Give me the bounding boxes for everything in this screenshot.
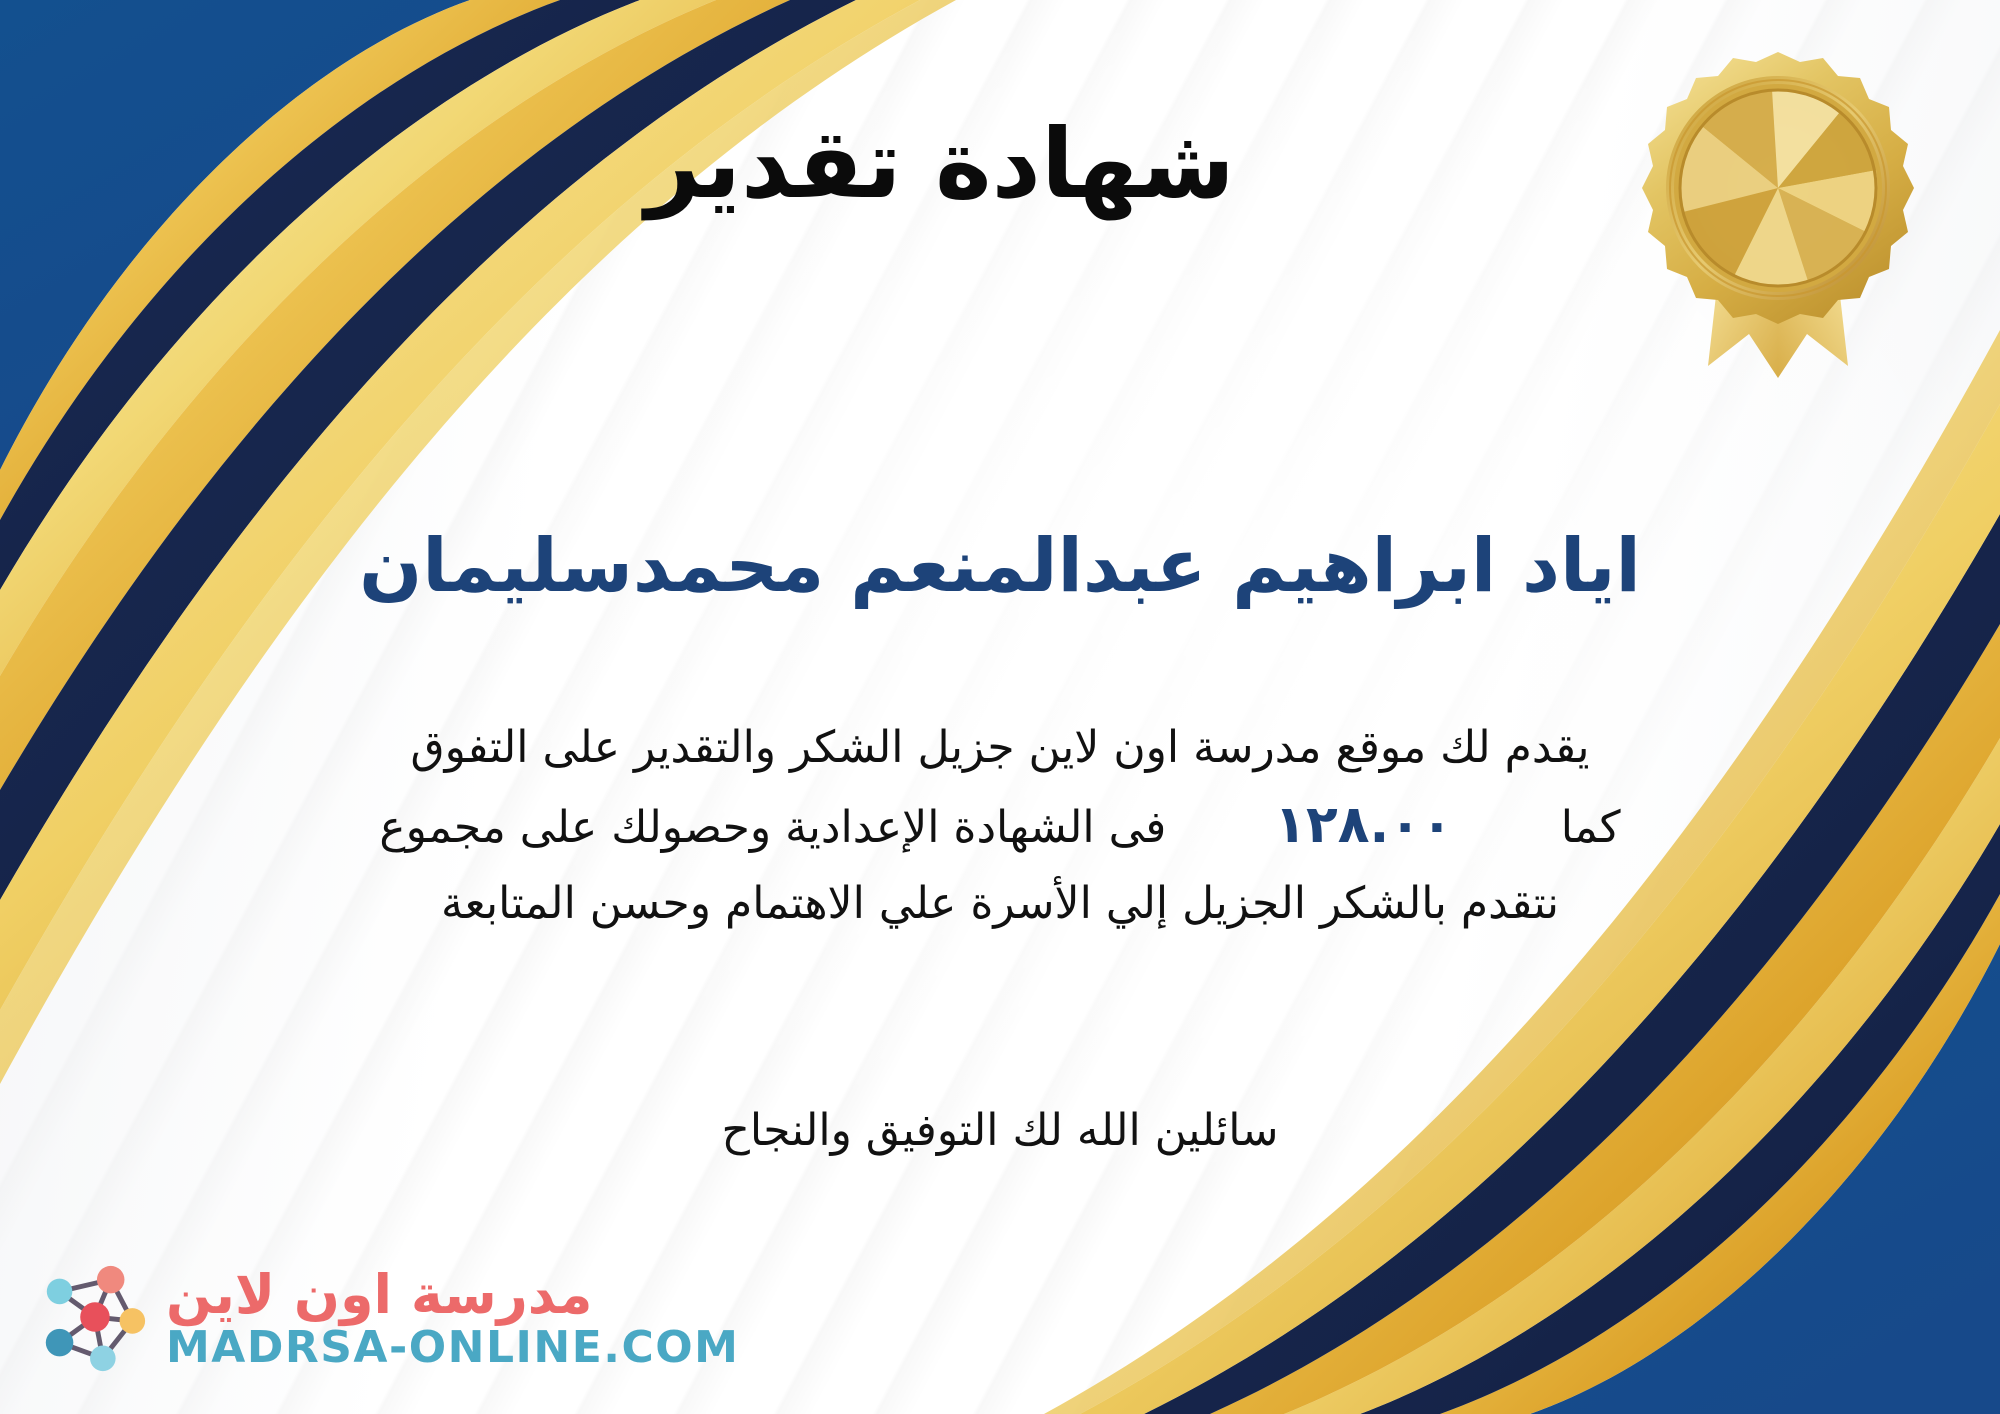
total-score-value: ١٢٨.٠٠ [1248, 795, 1478, 855]
body-line-3: نتقدم بالشكر الجزيل إلي الأسرة علي الاهت… [60, 868, 1940, 939]
brand-text: مدرسة اون لاين MADRSA-ONLINE.COM [166, 1266, 739, 1372]
body-line-2: كما ١٢٨.٠٠ فى الشهادة الإعدادية وحصولك ع… [60, 783, 1940, 867]
network-nodes-icon [34, 1260, 152, 1378]
brand-logo[interactable]: مدرسة اون لاين MADRSA-ONLINE.COM [34, 1260, 739, 1378]
body-line-1: يقدم لك موقع مدرسة اون لاين جزيل الشكر و… [60, 712, 1940, 783]
certificate-canvas: شهادة تقدير اياد ابراهيم عبدالمنعم محمدس… [0, 0, 2000, 1414]
closing-wish: سائلين الله لك التوفيق والنجاح [0, 1105, 2000, 1156]
brand-arabic-name: مدرسة اون لاين [166, 1266, 592, 1324]
brand-website[interactable]: MADRSA-ONLINE.COM [166, 1324, 739, 1372]
recipient-name: اياد ابراهيم عبدالمنعم محمدسليمان [0, 520, 2000, 613]
body-line-2-prefix: فى الشهادة الإعدادية وحصولك على مجموع [379, 802, 1166, 853]
certificate-body: يقدم لك موقع مدرسة اون لاين جزيل الشكر و… [60, 712, 1940, 939]
body-line-2-suffix: كما [1561, 802, 1621, 853]
gold-medal-badge-icon [1628, 48, 1928, 378]
